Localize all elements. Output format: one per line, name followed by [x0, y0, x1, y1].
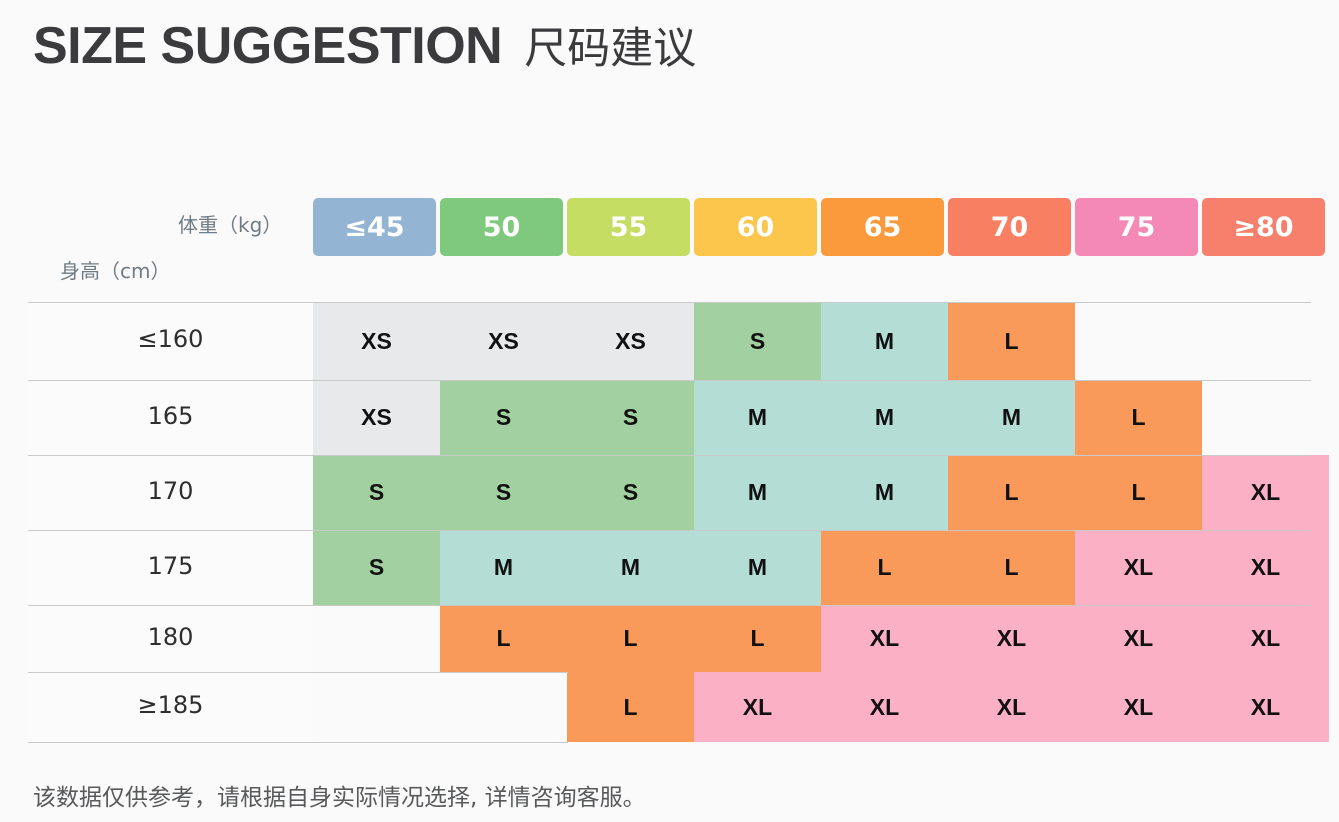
weight-header-1: 50: [440, 198, 563, 256]
height-row-label-0: ≤160: [28, 325, 313, 353]
size-cell: M: [948, 380, 1075, 455]
size-cell: S: [694, 302, 821, 380]
size-cell: XS: [313, 302, 440, 380]
page-title: SIZE SUGGESTION 尺码建议: [33, 14, 696, 76]
row-separator: [28, 380, 1311, 381]
size-cell: S: [567, 455, 694, 530]
size-cell: M: [440, 530, 567, 605]
height-row-label-2: 170: [28, 477, 313, 505]
size-cell: L: [567, 672, 694, 742]
row-separator: [28, 530, 1311, 531]
weight-axis-label: 体重（kg）: [178, 209, 282, 238]
size-cell: XL: [1202, 605, 1329, 672]
row-separator: [28, 742, 568, 743]
size-cell: S: [440, 380, 567, 455]
size-cell: L: [440, 605, 567, 672]
size-cell: L: [567, 605, 694, 672]
size-cell: L: [948, 530, 1075, 605]
weight-header-6: 75: [1075, 198, 1198, 256]
size-cell: XS: [440, 302, 567, 380]
title-chinese: 尺码建议: [524, 14, 696, 76]
size-cell: M: [821, 380, 948, 455]
size-cell: XL: [948, 672, 1075, 742]
size-cell: XS: [567, 302, 694, 380]
weight-header-5: 70: [948, 198, 1071, 256]
size-cell: XL: [1202, 455, 1329, 530]
row-separator: [28, 455, 1311, 456]
height-row-label-3: 175: [28, 552, 313, 580]
size-cell: XL: [1075, 672, 1202, 742]
size-cell: XL: [1202, 672, 1329, 742]
size-cell: XL: [821, 605, 948, 672]
size-cell: L: [948, 455, 1075, 530]
size-cell: S: [313, 455, 440, 530]
size-cell: S: [440, 455, 567, 530]
size-cell: XL: [1075, 530, 1202, 605]
size-cell: L: [1075, 380, 1202, 455]
title-english: SIZE SUGGESTION: [33, 16, 502, 76]
row-separator: [28, 605, 1311, 606]
size-cell: XL: [694, 672, 821, 742]
weight-header-3: 60: [694, 198, 817, 256]
size-cell: XL: [948, 605, 1075, 672]
height-row-label-5: ≥185: [28, 691, 313, 719]
size-cell: M: [821, 455, 948, 530]
size-cell: M: [694, 380, 821, 455]
size-cell: L: [948, 302, 1075, 380]
size-cell: M: [694, 530, 821, 605]
height-row-label-4: 180: [28, 623, 313, 651]
weight-header-0: ≤45: [313, 198, 436, 256]
row-separator: [28, 672, 568, 673]
weight-header-4: 65: [821, 198, 944, 256]
size-cell: M: [567, 530, 694, 605]
footnote: 该数据仅供参考，请根据自身实际情况选择, 详情咨询客服。: [33, 778, 646, 812]
height-row-label-1: 165: [28, 402, 313, 430]
size-cell: XL: [1075, 605, 1202, 672]
size-chart-grid: ≤45505560657075≥80XSXSXSSMLXSSSMMMLSSSMM…: [313, 198, 1323, 744]
size-cell: XS: [313, 380, 440, 455]
weight-header-2: 55: [567, 198, 690, 256]
size-cell: S: [567, 380, 694, 455]
size-cell: S: [313, 530, 440, 605]
size-cell: L: [694, 605, 821, 672]
row-separator: [28, 302, 1311, 303]
size-cell: XL: [1202, 530, 1329, 605]
size-cell: M: [694, 455, 821, 530]
size-cell: L: [821, 530, 948, 605]
size-cell: L: [1075, 455, 1202, 530]
weight-header-7: ≥80: [1202, 198, 1325, 256]
size-cell: M: [821, 302, 948, 380]
size-cell: XL: [821, 672, 948, 742]
height-axis-label: 身高（cm）: [60, 255, 170, 284]
